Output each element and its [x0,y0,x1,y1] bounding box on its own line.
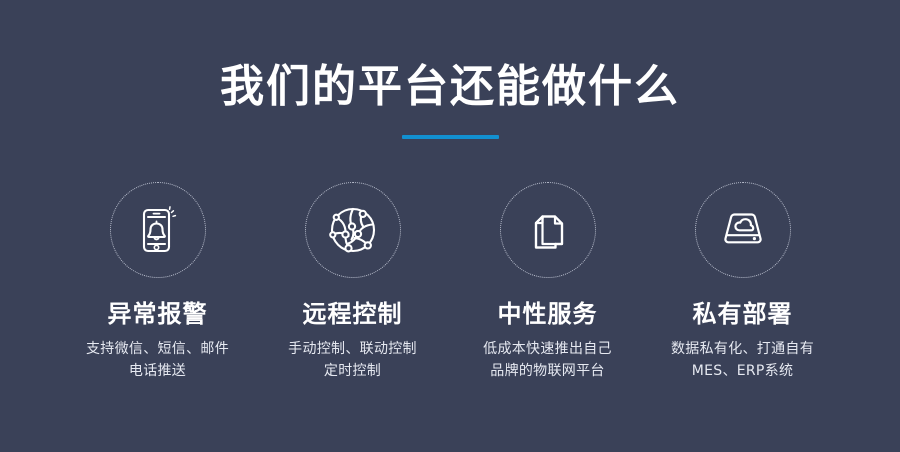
feature-description: 手动控制、联动控制 定时控制 [288,338,417,382]
title-accent-bar [402,135,499,139]
network-globe-icon [324,201,382,259]
cloud-server-icon [714,201,772,259]
feature-item-private-deployment[interactable]: 私有部署 数据私有化、打通自有 MES、ERP系统 [645,182,840,382]
feature-item-remote-control[interactable]: 远程控制 手动控制、联动控制 定时控制 [255,182,450,382]
feature-description: 支持微信、短信、邮件 电话推送 [86,338,229,382]
feature-title: 远程控制 [303,299,403,329]
phone-bell-alert-icon [130,202,186,258]
feature-description-line: 支持微信、短信、邮件 [86,338,229,360]
page-title: 我们的平台还能做什么 [0,58,900,116]
icon-ring-remote-control [305,182,401,278]
feature-description-line: 数据私有化、打通自有 [671,338,814,360]
icon-ring-private-deployment [695,182,791,278]
feature-description-line: 电话推送 [86,360,229,382]
feature-item-neutral-service[interactable]: 中性服务 低成本快速推出自己 品牌的物联网平台 [450,182,645,382]
feature-description-line: 低成本快速推出自己 [483,338,612,360]
feature-title: 中性服务 [498,299,598,329]
feature-description-line: 定时控制 [288,360,417,382]
feature-title: 异常报警 [108,299,208,329]
feature-description: 数据私有化、打通自有 MES、ERP系统 [671,338,814,382]
feature-list: 异常报警 支持微信、短信、邮件 电话推送 [0,182,900,382]
documents-stack-icon [521,203,575,257]
feature-title: 私有部署 [693,299,793,329]
feature-description-line: 品牌的物联网平台 [483,360,612,382]
title-block: 我们的平台还能做什么 [0,58,900,139]
feature-description-line: MES、ERP系统 [671,360,814,382]
feature-description-line: 手动控制、联动控制 [288,338,417,360]
feature-item-alarm[interactable]: 异常报警 支持微信、短信、邮件 电话推送 [60,182,255,382]
icon-ring-neutral-service [500,182,596,278]
feature-banner: 我们的平台还能做什么 [0,0,900,452]
feature-description: 低成本快速推出自己 品牌的物联网平台 [483,338,612,382]
icon-ring-alarm [110,182,206,278]
